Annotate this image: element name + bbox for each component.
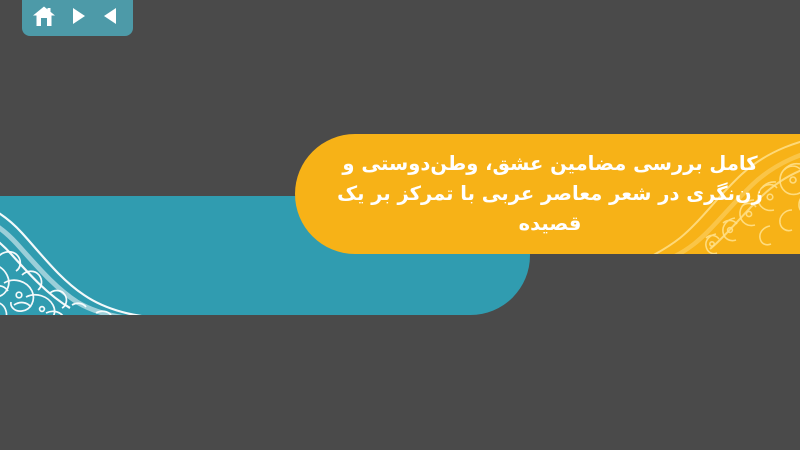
- next-slide-button[interactable]: [65, 3, 91, 29]
- previous-slide-button[interactable]: [98, 3, 124, 29]
- orange-banner-shape: [295, 134, 800, 254]
- triangle-right-icon: [67, 5, 89, 27]
- triangle-left-icon: [100, 5, 122, 27]
- home-button[interactable]: [31, 3, 57, 29]
- slide-navigation-toolbar: [22, 0, 133, 36]
- orange-arabesque-ornament-icon: [650, 134, 800, 254]
- presentation-slide: کامل بررسی مضامین عشق، وطن‌دوستی و زن‌نگ…: [0, 0, 800, 450]
- teal-arabesque-ornament-icon: [0, 196, 170, 315]
- home-icon: [32, 5, 56, 28]
